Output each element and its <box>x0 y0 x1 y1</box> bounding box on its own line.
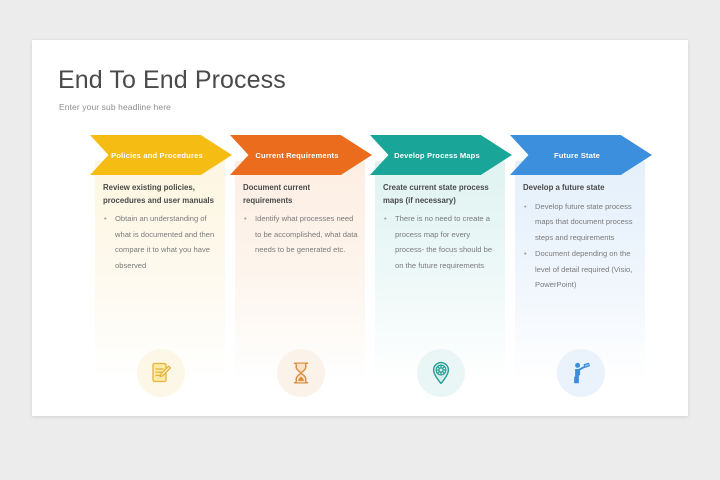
step-3-body: Create current state process maps (if ne… <box>383 182 501 275</box>
step-2-body: Document current requirements Identify w… <box>243 182 361 259</box>
step-4-bullet-2: Document depending on the level of detai… <box>523 246 641 293</box>
step-4-body: Develop a future state Develop future st… <box>523 182 641 294</box>
step-1-bullet-list: Obtain an understanding of what is docum… <box>103 211 221 273</box>
step-4-bullet-list: Develop future state process maps that d… <box>523 199 641 293</box>
step-2-banner-label: Current Requirements <box>245 150 356 161</box>
step-4-heading: Develop a future state <box>523 182 641 195</box>
process-step-2[interactable]: Current Requirements Document current re… <box>230 135 372 416</box>
process-step-4[interactable]: Future State Develop a future state Deve… <box>510 135 652 416</box>
step-1-body: Review existing policies, procedures and… <box>103 182 221 275</box>
page-subtitle: Enter your sub headline here <box>59 102 171 112</box>
step-3-banner-label: Develop Process Maps <box>384 150 498 161</box>
step-2-bullet-list: Identify what processes need to be accom… <box>243 211 361 258</box>
step-2-heading: Document current requirements <box>243 182 361 207</box>
page-title: End To End Process <box>58 66 286 95</box>
step-3-bullet-1: There is no need to create a process map… <box>383 211 501 273</box>
process-steps-row: Policies and Procedures Review existing … <box>32 135 688 416</box>
document-pencil-icon <box>137 349 185 397</box>
map-pin-gear-icon <box>417 349 465 397</box>
slide-canvas: End To End Process Enter your sub headli… <box>32 40 688 416</box>
step-4-bullet-1: Develop future state process maps that d… <box>523 199 641 246</box>
step-1-banner-label: Policies and Procedures <box>101 150 221 161</box>
step-1-heading: Review existing policies, procedures and… <box>103 182 221 207</box>
process-step-3[interactable]: Develop Process Maps Create current stat… <box>370 135 512 416</box>
person-telescope-icon <box>557 349 605 397</box>
step-2-bullet-1: Identify what processes need to be accom… <box>243 211 361 258</box>
hourglass-icon <box>277 349 325 397</box>
step-4-banner-label: Future State <box>544 150 618 161</box>
step-3-bullet-list: There is no need to create a process map… <box>383 211 501 273</box>
step-1-bullet-1: Obtain an understanding of what is docum… <box>103 211 221 273</box>
process-step-1[interactable]: Policies and Procedures Review existing … <box>90 135 232 416</box>
step-3-heading: Create current state process maps (if ne… <box>383 182 501 207</box>
